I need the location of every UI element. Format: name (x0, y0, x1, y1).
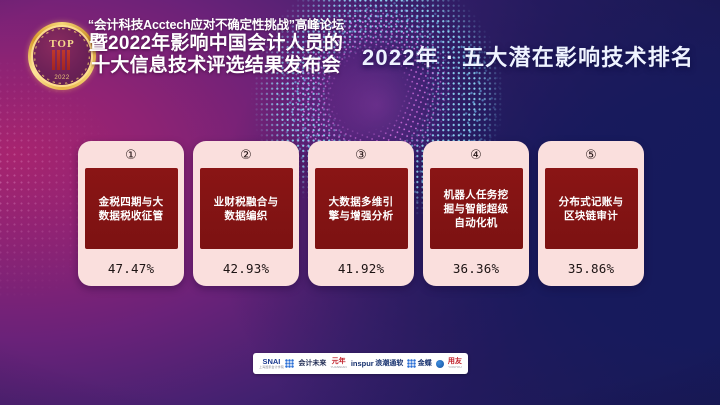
sponsor-yonyou-sub: YONYOU (448, 366, 462, 369)
rank-badge: ③ (355, 148, 367, 163)
event-title-block: “会计科技Acctech应对不确定性挑战”高峰论坛 暨2022年影响中国会计人员… (86, 18, 346, 77)
rank-badge: ④ (470, 148, 482, 163)
slide-subtitle: 2022年 · 五大潜在影响技术排名 (362, 40, 694, 72)
sponsor-yuannian-sub: YUANNIAN (330, 366, 346, 369)
sponsor-logo-kuaijiweilai: 会计未来 (298, 360, 326, 367)
technology-name-box: 金税四期与大 数据税收征管 (85, 168, 178, 249)
vote-percentage: 47.47% (108, 261, 154, 276)
sponsor-logo-yuannian: 元年 YUANNIAN (330, 358, 346, 369)
technology-name-line3: 自动化机 (454, 217, 497, 229)
technology-name-line1: 业财税融合与 (214, 196, 279, 208)
sponsor-jindie-name: 金蝶 (418, 360, 432, 367)
technology-name-line1: 机器人任务挖 (444, 189, 509, 201)
technology-name-box: 分布式记账与 区块链审计 (545, 168, 638, 249)
technology-name: 业财税融合与 数据编织 (214, 195, 279, 223)
technology-name-line2: 数据编织 (224, 210, 267, 222)
technology-name: 机器人任务挖 掘与智能超级 自动化机 (444, 188, 509, 230)
ranking-card-list: ① 金税四期与大 数据税收征管 47.47% ② 业财税融合与 数据编织 42.… (78, 141, 644, 286)
event-title-line3: 十大信息技术评选结果发布会 (86, 55, 346, 77)
technology-name: 大数据多维引 擎与增强分析 (329, 195, 394, 223)
sponsor-logo-extra (436, 360, 444, 368)
rank-badge: ① (125, 148, 137, 163)
ranking-card[interactable]: ④ 机器人任务挖 掘与智能超级 自动化机 36.36% (423, 141, 529, 286)
technology-name: 金税四期与大 数据税收征管 (99, 195, 164, 223)
technology-name-line2: 掘与智能超级 (444, 203, 509, 215)
snai-dot-icon (285, 359, 294, 368)
technology-name-line1: 分布式记账与 (559, 196, 624, 208)
technology-name-box: 大数据多维引 擎与增强分析 (315, 168, 408, 249)
sponsor-logo-snai: SNAI 上海国家会计学院 (259, 358, 294, 369)
sponsor-circle-icon (436, 360, 444, 368)
event-title-line1: “会计科技Acctech应对不确定性挑战”高峰论坛 (86, 18, 346, 33)
sponsor-inspur-mark: inspur (351, 360, 374, 368)
technology-name-box: 机器人任务挖 掘与智能超级 自动化机 (430, 168, 523, 249)
sponsor-logo-bar: SNAI 上海国家会计学院 会计未来 元年 YUANNIAN inspur 浪潮… (253, 353, 468, 374)
technology-name-box: 业财税融合与 数据编织 (200, 168, 293, 249)
technology-name-line1: 金税四期与大 (99, 196, 164, 208)
vote-percentage: 41.92% (338, 261, 384, 276)
technology-name-line2: 数据税收征管 (99, 210, 164, 222)
event-title-line2: 暨2022年影响中国会计人员的 (86, 33, 346, 55)
rank-badge: ② (240, 148, 252, 163)
sponsor-logo-jindie: 金蝶 (407, 359, 432, 368)
ranking-card[interactable]: ② 业财税融合与 数据编织 42.93% (193, 141, 299, 286)
rank-badge: ⑤ (585, 148, 597, 163)
vote-percentage: 36.36% (453, 261, 499, 276)
technology-name-line1: 大数据多维引 (329, 196, 394, 208)
sponsor-inspur-name: 浪潮通软 (375, 360, 403, 367)
technology-name-line2: 区块链审计 (564, 210, 618, 222)
sponsor-kuaijiweilai-name: 会计未来 (298, 360, 326, 367)
vote-percentage: 42.93% (223, 261, 269, 276)
sponsor-snai-sub: 上海国家会计学院 (259, 366, 284, 369)
slide-canvas: TOP 2022 “会计科技Acctech应对不确定性挑战”高峰论坛 暨2022… (0, 0, 720, 405)
sponsor-logo-yonyou: 用友 YONYOU (448, 358, 462, 369)
technology-name-line2: 擎与增强分析 (329, 210, 394, 222)
ranking-card[interactable]: ① 金税四期与大 数据税收征管 47.47% (78, 141, 184, 286)
technology-name: 分布式记账与 区块链审计 (559, 195, 624, 223)
ranking-card[interactable]: ③ 大数据多维引 擎与增强分析 41.92% (308, 141, 414, 286)
sponsor-logo-inspur: inspur 浪潮通软 (351, 360, 403, 368)
emblem-pillar-icon (52, 50, 72, 70)
jindie-dot-icon (407, 359, 416, 368)
ranking-card[interactable]: ⑤ 分布式记账与 区块链审计 35.86% (538, 141, 644, 286)
vote-percentage: 35.86% (568, 261, 614, 276)
